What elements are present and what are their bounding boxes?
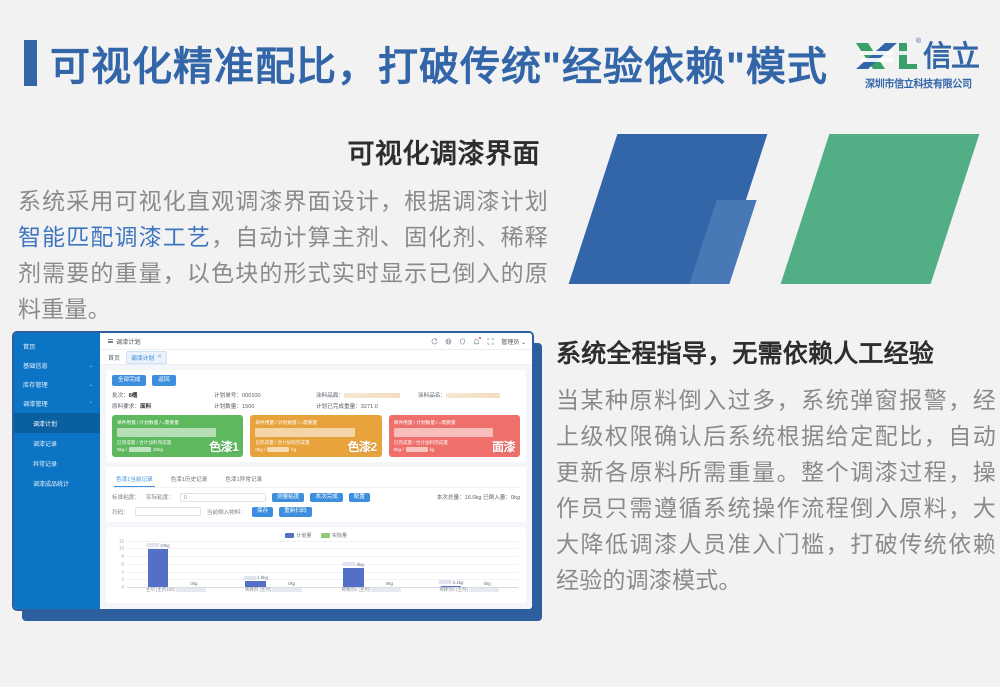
field-value: 8桶: [129, 393, 138, 399]
y-tick: 2: [122, 577, 124, 582]
app-main: 调漆计划: [100, 333, 532, 609]
bar-label: 0kg: [386, 581, 393, 586]
input-value: 0: [181, 495, 190, 501]
material-card-color-paint-1[interactable]: 单件用量 / 计划数量 / =需要量 已完成量 / 合计加料完成量 0kg /2…: [112, 415, 243, 457]
card-weight-total: kg: [430, 447, 435, 452]
card-weight-current: 0kg /: [255, 447, 265, 452]
scan-row: 扫码： 当前倒入物料： 保存 重新扫码: [112, 507, 520, 517]
field-value: 000100: [242, 393, 261, 399]
actual-viscosity-input[interactable]: 0: [180, 493, 266, 502]
bar-group-0: 10kg 0kg: [127, 541, 225, 587]
chart-y-axis: 12 10 8 6 4 2 0: [112, 541, 126, 587]
user-name: 管理员: [501, 340, 519, 346]
x-tick-1: 稀释剂 (主剂): [225, 587, 323, 600]
y-tick: 12: [119, 538, 124, 543]
app-topbar: 调漆计划: [100, 333, 532, 350]
label-scan-code: 扫码：: [112, 508, 129, 516]
field-batch: 批次：8桶: [112, 391, 214, 399]
field-label: 涂料品面：: [316, 393, 344, 399]
shield-icon[interactable]: [459, 338, 466, 345]
sidebar-item-basic-info[interactable]: 基础信息⌄: [14, 356, 100, 375]
field-label: 批次：: [112, 393, 129, 399]
topbar-title-group: 调漆计划: [108, 337, 141, 346]
config-button[interactable]: 配置: [349, 493, 370, 503]
close-icon[interactable]: ✕: [157, 354, 162, 360]
bar-label: 5kg: [343, 562, 364, 567]
field-label: 计划已完成重量：: [316, 404, 361, 410]
subtab-current-record[interactable]: 色漆1当前记录: [114, 472, 155, 487]
app-screenshot-mockup: 首页 基础信息⌄ 库存管理⌄ 调漆管理⌃ 调漆计划 调漆记录 异常记录 调漆成品…: [12, 331, 542, 621]
card-title: 色漆1: [209, 438, 238, 455]
record-subtabs: 色漆1当前记录 色漆1历史记录 色漆1异常记录: [112, 472, 520, 488]
chevron-down-icon: ⌄: [89, 363, 93, 369]
record-panel: 色漆1当前记录 色漆1历史记录 色漆1异常记录 标准粘度： 实际粘度： 0 测量…: [106, 467, 526, 522]
x-tick-3: 稀释剂2 (主剂): [420, 587, 518, 600]
redacted-value: [267, 447, 289, 452]
legend-swatch: [285, 533, 294, 538]
sidebar-item-inventory[interactable]: 库存管理⌄: [14, 375, 100, 394]
parallelogram-green: [781, 134, 980, 284]
subtab-history-record[interactable]: 色漆1历史记录: [169, 472, 210, 487]
card-progress-fill: [255, 428, 354, 437]
decorative-parallelograms: [555, 120, 1000, 300]
fullscreen-icon[interactable]: [487, 338, 494, 345]
redacted-value: [344, 393, 400, 398]
scan-code-input[interactable]: [135, 507, 201, 516]
card-formula-line: 单件用量 / 计划数量 / =需要量: [255, 419, 376, 426]
material-card-top-coat[interactable]: 单件用量 / 计划数量 / =需要量 已完成量 / 合计加料完成量 0kg /k…: [389, 415, 520, 457]
material-card-color-paint-2[interactable]: 单件用量 / 计划数量 / =需要量 已完成量 / 合计加料完成量 0kg /k…: [250, 415, 381, 457]
refresh-icon[interactable]: [431, 338, 438, 345]
bar-label: 0.2kg: [439, 580, 464, 585]
card-weight-total: 20kg: [153, 447, 163, 452]
y-tick: 10: [119, 546, 124, 551]
sidebar-label: 首页: [23, 342, 35, 351]
field-label: 原料要求：: [112, 404, 140, 410]
registered-mark: ®: [916, 38, 921, 45]
topbar-actions: 管理员 ⌄: [431, 337, 526, 346]
app-tabs-bar: 首页 调漆计划 ✕: [100, 350, 532, 365]
bar-group-3: 0.2kg 0kg: [420, 541, 518, 587]
legend-item-actual[interactable]: 实际量: [321, 532, 348, 539]
right-section-body: 当某种原料倒入过多，系统弹窗报警，经上级权限确认后系统根据给定配比，自动更新各原…: [556, 382, 996, 598]
sidebar-item-product-stats[interactable]: 调漆成品统计: [14, 473, 100, 493]
label-current-material: 当前倒入物料：: [207, 508, 246, 516]
bar-label: 10kg: [146, 543, 170, 548]
complete-current-button[interactable]: 本次完成: [310, 493, 342, 503]
totals-text: 本次总量：16.0kg 已倒入量：0kg: [437, 493, 520, 501]
tab-paint-plan[interactable]: 调漆计划 ✕: [126, 351, 167, 364]
plan-info-panel: 全部完成 返回 批次：8桶 计划单号：000100 涂料品面： 涂料品名： 原料…: [106, 370, 526, 462]
chart-plot-area: 12 10 8 6 4 2 0: [112, 541, 520, 600]
chart-legend: 计划量 实际量: [112, 531, 520, 540]
sidebar-item-paint-mgmt[interactable]: 调漆管理⌃: [14, 394, 100, 413]
measure-viscosity-button[interactable]: 测量粘度: [272, 493, 304, 503]
logo-xl-mark: ®: [854, 39, 918, 73]
topbar-title: 调漆计划: [116, 337, 141, 346]
field-value: 面料: [140, 404, 151, 410]
redacted-value: [446, 393, 500, 398]
y-tick: 6: [122, 561, 124, 566]
label-standard-viscosity: 标准粘度：: [112, 493, 140, 501]
sidebar-label: 调漆计划: [33, 419, 57, 428]
field-plan-done-weight: 计划已完成重量：3271.0: [316, 402, 418, 410]
sidebar-label: 异常记录: [33, 459, 57, 468]
left-section-body: 系统采用可视化直观调漆界面设计，根据调漆计划智能匹配调漆工艺，自动计算主剂、固化…: [18, 183, 548, 327]
right-section-title: 系统全程指导，无需依赖人工经验: [556, 334, 996, 370]
rescan-button[interactable]: 重新扫码: [279, 507, 311, 517]
material-cards: 单件用量 / 计划数量 / =需要量 已完成量 / 合计加料完成量 0kg /2…: [112, 415, 520, 457]
chevron-up-icon: ⌃: [89, 401, 93, 407]
viscosity-row: 标准粘度： 实际粘度： 0 测量粘度 本次完成 配置 本次总量：16.0kg 已…: [112, 493, 520, 503]
field-value: 1500: [242, 404, 254, 410]
sidebar-label: 基础信息: [23, 361, 48, 370]
legend-label: 实际量: [332, 532, 347, 539]
notification-badge: [479, 337, 482, 340]
bar-group-1: 1.5kg 0kg: [225, 541, 323, 587]
card-formula-line: 单件用量 / 计划数量 / =需要量: [117, 419, 238, 426]
sidebar-label: 调漆成品统计: [33, 479, 69, 488]
legend-label: 计划量: [296, 532, 311, 539]
sidebar-item-paint-plan[interactable]: 调漆计划: [14, 413, 100, 433]
page-header: 可视化精准配比，打破传统"经验依赖"模式 ® 信立 深圳市信立科技有限公: [0, 0, 1000, 118]
sidebar-label: 调漆记录: [33, 439, 57, 448]
left-copy-block: 可视化调漆界面 系统采用可视化直观调漆界面设计，根据调漆计划智能匹配调漆工艺，自…: [18, 132, 548, 327]
chevron-down-icon: ⌄: [89, 382, 93, 388]
title-accent-bar: [24, 40, 37, 86]
field-value: 3271.0: [361, 404, 378, 410]
bar-label: 1.5kg: [243, 575, 268, 580]
field-spacer: [418, 402, 520, 410]
field-plan-qty: 计划数量：1500: [214, 402, 316, 410]
legend-swatch: [321, 533, 330, 538]
y-tick: 0: [122, 585, 124, 590]
bar-label: 0kg: [484, 581, 491, 586]
right-copy-block: 系统全程指导，无需依赖人工经验 当某种原料倒入过多，系统弹窗报警，经上级权限确认…: [556, 334, 996, 598]
card-weight-current: 0kg /: [117, 447, 127, 452]
y-tick: 4: [122, 569, 124, 574]
app-sidebar: 首页 基础信息⌄ 库存管理⌄ 调漆管理⌃ 调漆计划 调漆记录 异常记录 调漆成品…: [14, 333, 100, 609]
save-button[interactable]: 保存: [252, 507, 273, 517]
left-body-part1: 系统采用可视化直观调漆界面设计，根据调漆计划: [18, 188, 548, 214]
card-formula-line: 单件用量 / 计划数量 / =需要量: [394, 419, 515, 426]
logo-company-name: 深圳市信立科技有限公司: [854, 76, 983, 91]
field-label: 涂料品名：: [418, 393, 446, 399]
menu-collapse-icon[interactable]: [108, 339, 113, 344]
complete-all-button[interactable]: 全部完成: [112, 375, 146, 386]
field-material-req: 原料要求：面料: [112, 402, 214, 410]
y-tick: 8: [122, 554, 124, 559]
bar-label: 0kg: [190, 581, 197, 586]
app-window: 首页 基础信息⌄ 库存管理⌄ 调漆管理⌃ 调漆计划 调漆记录 异常记录 调漆成品…: [12, 331, 534, 611]
plan-info-row-1: 批次：8桶 计划单号：000100 涂料品面： 涂料品名：: [112, 391, 520, 399]
legend-item-planned[interactable]: 计划量: [285, 532, 312, 539]
globe-icon[interactable]: [445, 338, 452, 345]
chart-x-axis: 主剂 (主剂100) 稀释剂 (主剂) 稀释剂1 (主剂) 稀释剂2 (主剂): [127, 587, 518, 600]
subtab-exception-record[interactable]: 色漆1异常记录: [223, 472, 264, 487]
plan-info-row-2: 原料要求：面料 计划数量：1500 计划已完成重量：3271.0: [112, 402, 520, 410]
card-progress-fill: [394, 428, 493, 437]
field-coating-name: 涂料品名：: [418, 391, 520, 399]
field-plan-no: 计划单号：000100: [214, 391, 316, 399]
material-chart-panel: 计划量 实际量 12 10 8 6 4 2 0: [106, 527, 526, 603]
sidebar-label: 调漆管理: [23, 399, 48, 408]
bar-planned[interactable]: 10kg: [148, 549, 169, 588]
card-progress-fill: [117, 428, 216, 437]
field-label: 计划单号：: [214, 393, 242, 399]
chevron-down-icon: ⌄: [521, 340, 526, 346]
bell-icon[interactable]: [473, 338, 480, 345]
back-button[interactable]: 返回: [152, 375, 175, 386]
redacted-value: [406, 447, 428, 452]
field-label: 计划数量：: [214, 404, 242, 410]
panel-button-row: 全部完成 返回: [112, 375, 520, 386]
sidebar-item-paint-record[interactable]: 调漆记录: [14, 433, 100, 453]
user-menu[interactable]: 管理员 ⌄: [501, 337, 526, 346]
chart-bars: 10kg 0kg 1.5kg 0kg 5kg 0kg 0.2kg: [127, 541, 518, 587]
company-logo: ® 信立 深圳市信立科技有限公司: [854, 37, 988, 93]
sidebar-item-exception-record[interactable]: 异常记录: [14, 453, 100, 473]
x-tick-2: 稀释剂1 (主剂): [323, 587, 421, 600]
tab-label: 调漆计划: [131, 353, 154, 362]
logo-name: 信立: [923, 41, 979, 73]
bar-planned[interactable]: 5kg: [343, 568, 364, 587]
card-title: 面漆: [492, 438, 515, 455]
sidebar-item-home[interactable]: 首页: [14, 337, 100, 356]
left-body-highlight: 智能匹配调漆工艺: [18, 224, 211, 250]
card-weight-total: kg: [291, 447, 296, 452]
sidebar-label: 库存管理: [23, 380, 48, 389]
x-tick-0: 主剂 (主剂100): [127, 587, 225, 600]
tab-home[interactable]: 首页: [108, 353, 120, 362]
field-coating-type: 涂料品面：: [316, 391, 418, 399]
bar-label: 0kg: [288, 581, 295, 586]
bar-group-2: 5kg 0kg: [323, 541, 421, 587]
label-actual-viscosity: 实际粘度：: [146, 493, 174, 501]
page-title: 可视化精准配比，打破传统"经验依赖"模式: [50, 34, 828, 92]
card-weight-current: 0kg /: [394, 447, 404, 452]
card-title: 色漆2: [347, 438, 376, 455]
redacted-value: [129, 447, 151, 452]
left-section-title: 可视化调漆界面: [18, 132, 540, 171]
